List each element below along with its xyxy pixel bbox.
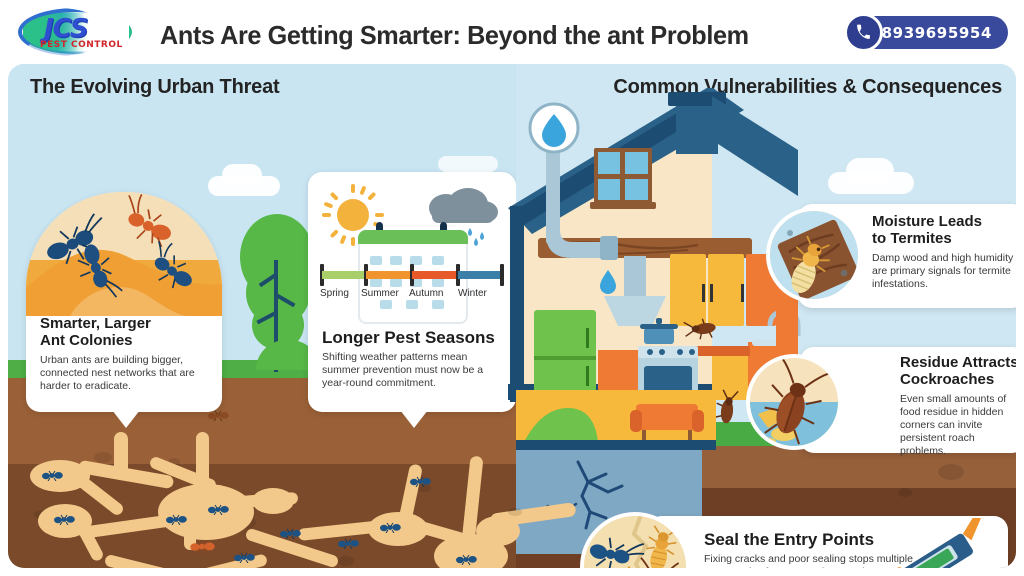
tunnel-chamber [476,516,520,546]
season-bar-winter [458,271,502,279]
termite-on-damp-wood-illustration [766,207,862,303]
ant-figure [54,512,74,521]
ant-figure [42,468,62,477]
card-seal-the-entry-points[interactable]: Seal the Entry Points Fixing cracks and … [648,516,1008,568]
soil-pebble [898,488,912,497]
ant-figure [166,512,186,521]
ant-queen-figure [190,540,210,549]
left-section-title: The Evolving Urban Threat [30,76,279,99]
calendar-cell [432,278,444,287]
season-label-winter: Winter [458,288,487,299]
calendar-cell [370,278,382,287]
page-title: Ants Are Getting Smarter: Beyond the ant… [160,18,839,52]
season-label-autumn: Autumn [409,288,443,299]
soil-pebble [338,556,354,566]
phone-number-text: 8939695954 [882,24,992,42]
card-longer-pest-seasons[interactable]: Spring Summer Autumn Winter Longer Pest … [308,172,516,412]
header-bar: JCS PEST CONTROL Ants Are Getting Smarte… [0,0,1024,64]
roach-card-heading-line1: Residue Attracts [900,355,1016,372]
ant-card-body: Urban ants are building bigger, connecte… [40,354,212,394]
calendar-cell [390,278,402,287]
season-label-spring: Spring [320,288,349,299]
soil-pebble [938,464,964,480]
soil-pebble [508,508,522,516]
ant-figure [234,550,254,559]
season-bar-autumn [412,271,458,279]
calendar-cell [390,256,402,265]
season-label-summer: Summer [361,288,399,299]
cloud-icon [222,164,262,186]
termite-card-heading-line1: Moisture Leads [872,214,1016,231]
infographic-root: JCS PEST CONTROL Ants Are Getting Smarte… [0,0,1024,576]
ant-card-heading-line1: Smarter, Larger [40,316,212,333]
season-bar-summer [366,271,412,279]
soil-pebble [94,452,112,463]
callout-tail [400,410,428,428]
infographic-panel: The Evolving Urban Threat [8,64,1016,568]
logo-tagline-text: PEST CONTROL [40,40,123,50]
cockroach-with-food-residue-illustration [746,354,842,450]
callout-tail [112,410,140,428]
ant-figure [456,552,476,561]
season-card-body: Shifting weather patterns mean summer pr… [322,351,506,391]
termite-card-body: Damp wood and high humidity are primary … [872,252,1016,292]
caulk-gun-icon [864,518,1012,568]
calendar-cell [370,256,382,265]
jcs-pest-control-logo[interactable]: JCS PEST CONTROL [14,6,136,58]
cloud-icon [438,156,498,172]
calendar-cell [380,300,392,309]
calendar-cell [406,300,418,309]
ant-figure [338,536,358,545]
calendar-header [358,230,468,244]
termite-card-heading-line2: to Termites [872,231,1016,248]
calendar-cell [432,300,444,309]
season-bar-spring [322,271,366,279]
ant-figure [208,502,228,511]
ant-figure [276,566,296,568]
phone-icon [844,13,883,52]
roach-card-body: Even small amounts of food residue in hi… [900,393,1016,459]
ant-figure [380,520,400,529]
phone-cta-pill[interactable]: 8939695954 [848,16,1008,49]
season-card-heading: Longer Pest Seasons [322,328,506,347]
ant-card-heading-line2: Ant Colonies [40,333,212,350]
ant-figure [280,526,300,535]
calendar-cell [432,256,444,265]
ants-on-mound-illustration [26,192,222,316]
ant-figure [410,474,430,483]
card-smarter-larger-ant-colonies[interactable]: Smarter, Larger Ant Colonies Urban ants … [26,192,222,412]
roach-card-heading-line2: Cockroaches [900,372,1016,389]
